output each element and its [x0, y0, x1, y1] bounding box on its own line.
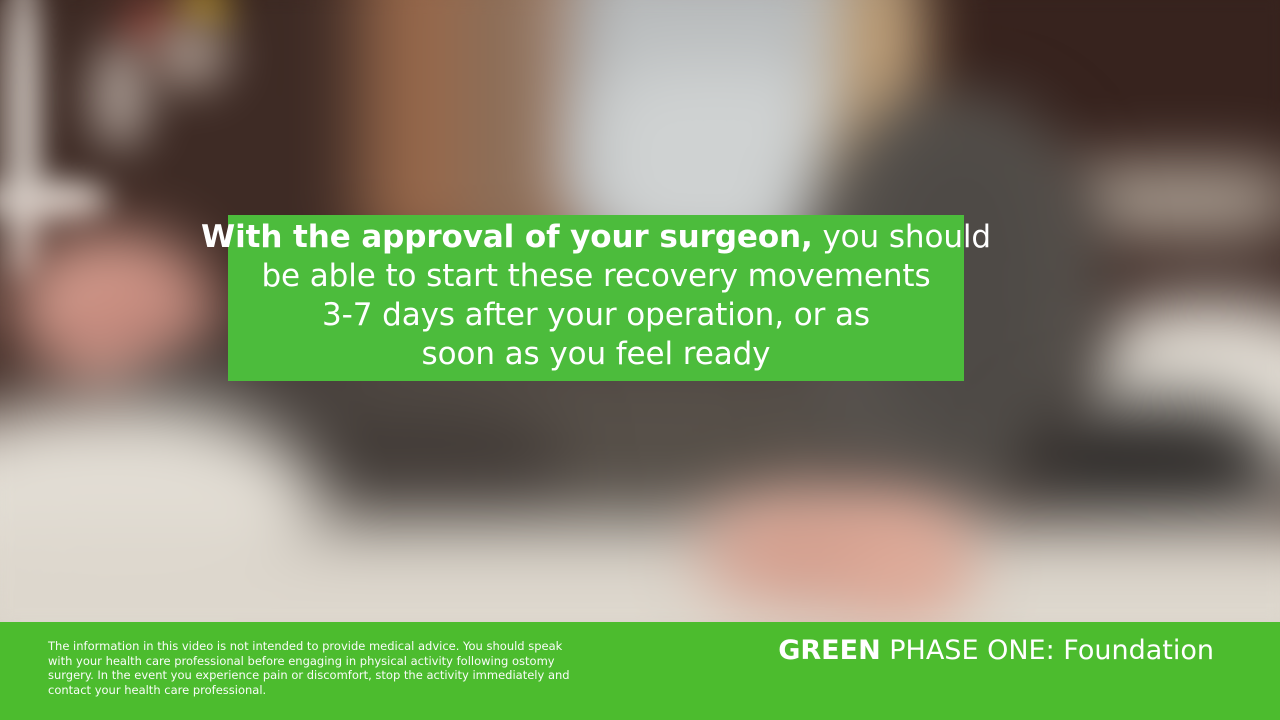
- background-bench: [1060, 170, 1280, 230]
- caption-line-3: 3-7 days after your operation, or as: [322, 296, 870, 335]
- phase-label: GREEN PHASE ONE: Foundation: [778, 634, 1214, 668]
- phase-label-rest: PHASE ONE: Foundation: [881, 635, 1214, 666]
- medical-disclaimer-text: The information in this video is not int…: [48, 639, 578, 697]
- bottom-banner: The information in this video is not int…: [0, 622, 1280, 720]
- caption-line-1: With the approval of your surgeon, you s…: [201, 218, 991, 257]
- caption-line-1-bold: With the approval of your surgeon,: [201, 219, 813, 255]
- background-pole: [6, 0, 40, 280]
- caption-line-1-regular: you should: [813, 219, 991, 255]
- background-light-patch-2: [150, 20, 230, 90]
- background-light-patch: [90, 40, 150, 150]
- video-player-stage: With the approval of your surgeon, you s…: [0, 0, 1280, 720]
- phase-label-highlight: GREEN: [778, 635, 880, 666]
- caption-box: With the approval of your surgeon, you s…: [228, 215, 964, 381]
- caption-line-4: soon as you feel ready: [422, 335, 771, 374]
- caption-line-2: be able to start these recovery movement…: [261, 257, 930, 296]
- background-bed-surface: [0, 520, 1280, 622]
- background-person-hand: [850, 530, 970, 610]
